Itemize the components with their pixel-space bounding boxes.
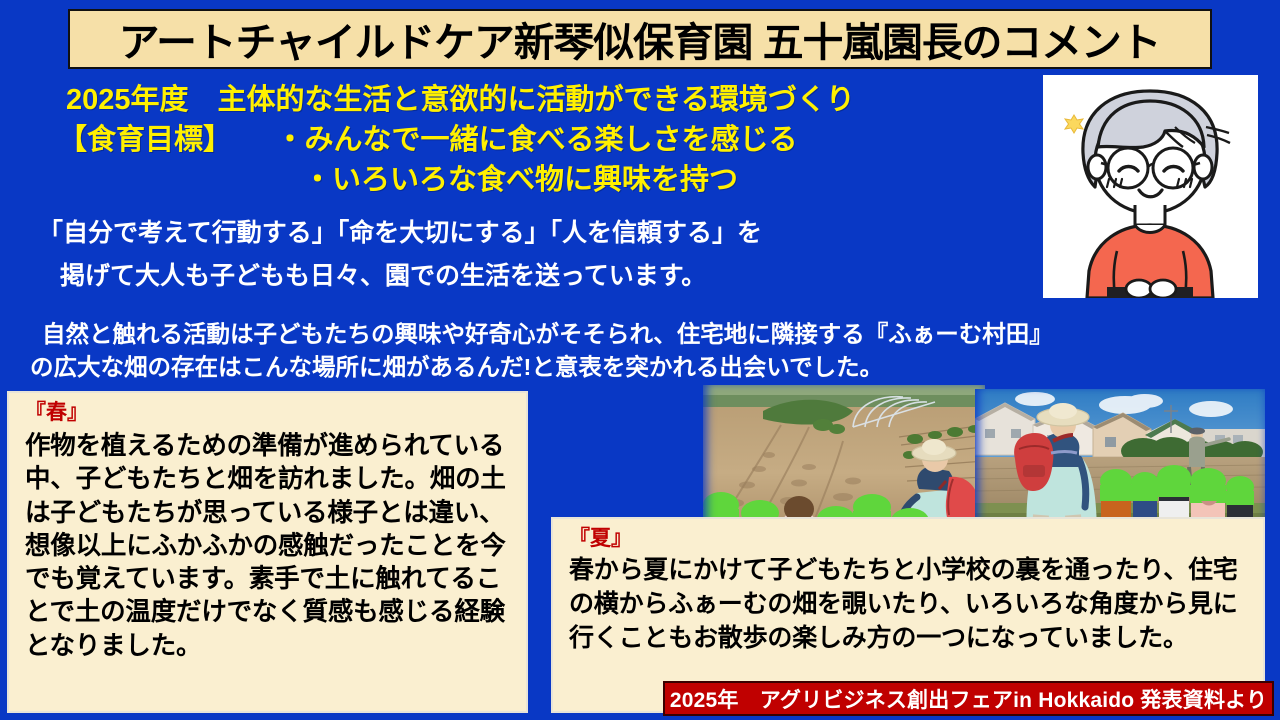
- slide-title-text: アートチャイルドケア新琴似保育園 五十嵐園長のコメント: [119, 10, 1161, 68]
- source-footer-text: 2025年 アグリビジネス創出フェアin Hokkaido 発表資料より: [670, 684, 1267, 714]
- nature-line-1: 自然と触れる活動は子どもたちの興味や好奇心がそそられ、住宅地に隣接する『ふぁーむ…: [30, 318, 1275, 351]
- season-label-spring: 『春』: [25, 401, 512, 424]
- heading-line-1: 2025年度 主体的な生活と意欲的に活動ができる環境づくり: [58, 80, 1033, 120]
- nature-line-2: の広大な畑の存在はこんな場所に畑があるんだ!と意表を突かれる出会いでした。: [30, 351, 1275, 384]
- presentation-slide: アートチャイルドケア新琴似保育園 五十嵐園長のコメント 2025年度 主体的な生…: [0, 0, 1280, 720]
- season-body-spring: 作物を植えるための準備が進められている中、子どもたちと畑を訪れました。畑の土は子…: [25, 430, 512, 663]
- slide-title-bar: アートチャイルドケア新琴似保育園 五十嵐園長のコメント: [68, 9, 1212, 69]
- policy-line-2: 掲げて大人も子どもも日々、園での生活を送っています。: [38, 255, 1038, 298]
- heading-line-2: 【食育目標】 ・みんなで一緒に食べる楽しさを感じる: [58, 120, 1033, 160]
- policy-block: 「自分で考えて行動する」「命を大切にする」「人を信頼する」を 掲げて大人も子ども…: [38, 212, 1038, 298]
- principal-illustration: [1043, 75, 1258, 298]
- season-body-summer: 春から夏にかけて子どもたちと小学校の裏を通ったり、住宅の横からふぁーむの畑を覗い…: [569, 554, 1249, 655]
- heading-line-3: ・いろいろな食べ物に興味を持つ: [58, 160, 1033, 200]
- season-label-summer: 『夏』: [569, 527, 1249, 550]
- season-box-spring: 『春』 作物を植えるための準備が進められている中、子どもたちと畑を訪れました。畑…: [7, 391, 528, 713]
- policy-line-1: 「自分で考えて行動する」「命を大切にする」「人を信頼する」を: [38, 212, 1038, 255]
- nature-block: 自然と触れる活動は子どもたちの興味や好奇心がそそられ、住宅地に隣接する『ふぁーむ…: [30, 318, 1275, 385]
- source-footer-bar: 2025年 アグリビジネス創出フェアin Hokkaido 発表資料より: [663, 681, 1274, 716]
- heading-block: 2025年度 主体的な生活と意欲的に活動ができる環境づくり 【食育目標】 ・みん…: [58, 80, 1033, 200]
